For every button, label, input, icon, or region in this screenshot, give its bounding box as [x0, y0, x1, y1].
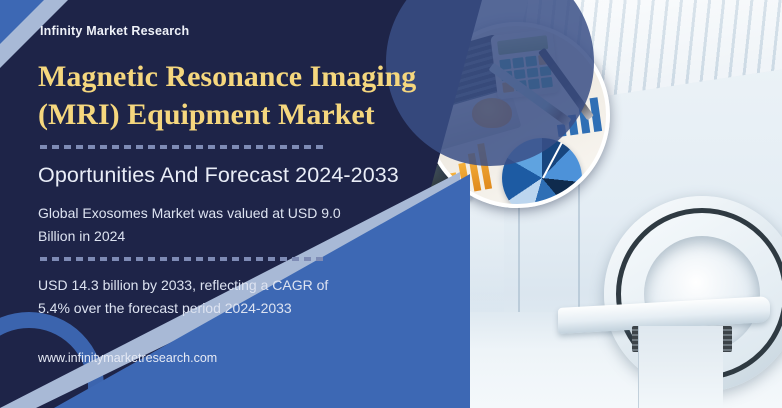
- dashed-divider-top: [40, 145, 328, 149]
- brand-name: Infinity Market Research: [40, 24, 189, 38]
- website-url[interactable]: www.infinitymarketresearch.com: [38, 351, 217, 365]
- page-title: Magnetic Resonance Imaging (MRI) Equipme…: [38, 58, 458, 134]
- subtitle: Oportunities And Forecast 2024-2033: [38, 163, 399, 188]
- forecast-statement: USD 14.3 billion by 2033, reflecting a C…: [38, 274, 338, 319]
- page-title-line-1: Magnetic Resonance Imaging: [38, 58, 458, 96]
- dashed-divider-bottom: [40, 257, 328, 261]
- text-content: Infinity Market Research Magnetic Resona…: [0, 0, 782, 408]
- market-report-banner: Infinity Market Research Magnetic Resona…: [0, 0, 782, 408]
- valuation-statement: Global Exosomes Market was valued at USD…: [38, 202, 368, 247]
- page-title-line-2: (MRI) Equipment Market: [38, 96, 458, 134]
